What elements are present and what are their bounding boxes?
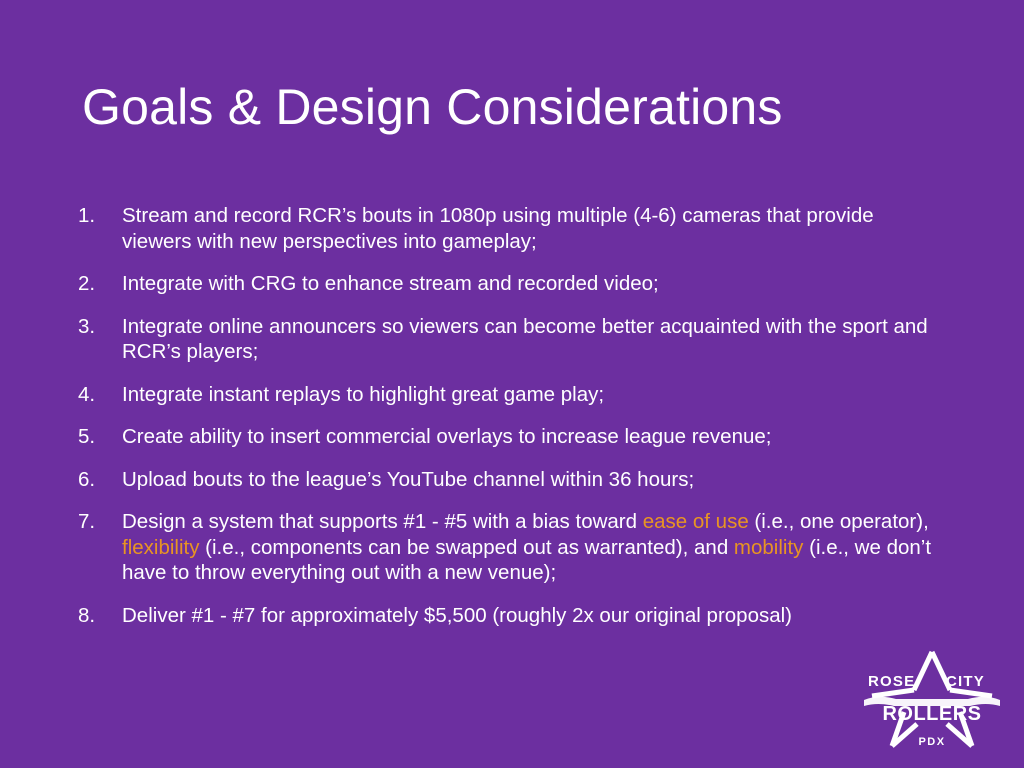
goal-item: 7.Design a system that supports #1 - #5 … <box>76 509 956 586</box>
goal-text-highlight: flexibility <box>122 536 199 559</box>
goal-text-segment: Design a system that supports #1 - #5 wi… <box>122 510 643 533</box>
goal-item: 6.Upload bouts to the league’s YouTube c… <box>76 467 956 493</box>
goal-text-segment: Stream and record RCR’s bouts in 1080p u… <box>122 204 874 253</box>
logo-word-rose: ROSE <box>868 673 915 690</box>
rose-city-rollers-logo: ROSE CITY ROLLERS PDX <box>862 646 1002 750</box>
goal-item: 2.Integrate with CRG to enhance stream a… <box>76 271 956 297</box>
goal-text: Create ability to insert commercial over… <box>122 424 946 450</box>
goal-text: Integrate online announcers so viewers c… <box>122 314 946 365</box>
goal-text: Upload bouts to the league’s YouTube cha… <box>122 467 946 493</box>
goal-text: Deliver #1 - #7 for approximately $5,500… <box>122 603 946 629</box>
goal-item: 5.Create ability to insert commercial ov… <box>76 424 956 450</box>
goal-text: Integrate with CRG to enhance stream and… <box>122 271 946 297</box>
logo-city-tag: PDX <box>918 736 945 748</box>
logo-word-city: CITY <box>946 673 985 690</box>
goal-number: 4. <box>76 382 122 408</box>
goal-text-segment: Integrate online announcers so viewers c… <box>122 315 928 364</box>
goal-text-segment: (i.e., components can be swapped out as … <box>199 536 733 559</box>
goal-number: 5. <box>76 424 122 450</box>
slide-canvas: Goals & Design Considerations 1.Stream a… <box>0 0 1024 768</box>
goal-text: Stream and record RCR’s bouts in 1080p u… <box>122 203 946 254</box>
logo-wordmark-rollers: ROLLERS <box>882 703 981 725</box>
goal-text-highlight: ease of use <box>643 510 749 533</box>
goal-text-segment: Integrate instant replays to highlight g… <box>122 383 604 406</box>
goal-item: 3.Integrate online announcers so viewers… <box>76 314 956 365</box>
goal-text-segment: (i.e., one operator), <box>749 510 929 533</box>
goal-item: 4.Integrate instant replays to highlight… <box>76 382 956 408</box>
goal-item: 8.Deliver #1 - #7 for approximately $5,5… <box>76 603 956 629</box>
goal-text-segment: Integrate with CRG to enhance stream and… <box>122 272 659 295</box>
goal-number: 1. <box>76 203 122 229</box>
goal-text: Design a system that supports #1 - #5 wi… <box>122 509 946 586</box>
goals-list: 1.Stream and record RCR’s bouts in 1080p… <box>76 203 956 645</box>
goal-number: 2. <box>76 271 122 297</box>
goal-text-segment: Upload bouts to the league’s YouTube cha… <box>122 468 694 491</box>
goal-number: 7. <box>76 509 122 535</box>
goal-text-segment: Deliver #1 - #7 for approximately $5,500… <box>122 604 792 627</box>
goal-item: 1.Stream and record RCR’s bouts in 1080p… <box>76 203 956 254</box>
goal-number: 8. <box>76 603 122 629</box>
goal-number: 3. <box>76 314 122 340</box>
goal-text: Integrate instant replays to highlight g… <box>122 382 946 408</box>
goal-text-highlight: mobility <box>734 536 804 559</box>
page-title: Goals & Design Considerations <box>82 80 783 135</box>
goal-number: 6. <box>76 467 122 493</box>
goal-text-segment: Create ability to insert commercial over… <box>122 425 771 448</box>
